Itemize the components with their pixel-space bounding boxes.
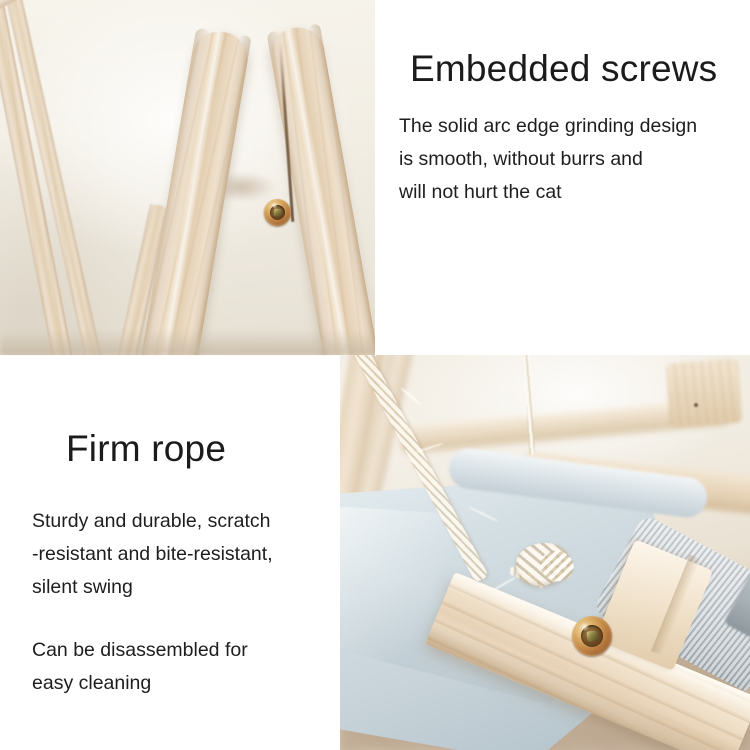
- photo-wood-joint: [0, 0, 375, 356]
- panel-divider-horizontal: [0, 355, 341, 356]
- rope-body-line: -resistant and bite-resistant,: [32, 538, 273, 571]
- rope-body-line: silent swing: [32, 571, 273, 604]
- screws-body-line: will not hurt the cat: [399, 176, 697, 209]
- infographic-canvas: Embedded screws The solid arc edge grind…: [0, 0, 750, 750]
- rope-body-line: Sturdy and durable, scratch: [32, 505, 273, 538]
- floor-shadow: [0, 330, 375, 356]
- rope-body-line: easy cleaning: [32, 667, 273, 700]
- photo-hammock-rope: [340, 355, 750, 750]
- rope-heading: Firm rope: [66, 428, 226, 470]
- screws-heading: Embedded screws: [410, 48, 717, 90]
- panel-divider-vertical: [375, 0, 376, 356]
- paragraph-spacer: [32, 604, 273, 634]
- screws-body-line: is smooth, without burrs and: [399, 143, 697, 176]
- text-panel-embedded-screws: Embedded screws The solid arc edge grind…: [375, 0, 750, 356]
- wood-knot-mark: [694, 403, 698, 407]
- screws-body-text: The solid arc edge grinding design is sm…: [399, 110, 697, 209]
- screws-body-line: The solid arc edge grinding design: [399, 110, 697, 143]
- background-wood-block: [666, 359, 742, 428]
- rope-body-text: Sturdy and durable, scratch -resistant a…: [32, 505, 273, 700]
- rope-body-line: Can be disassembled for: [32, 634, 273, 667]
